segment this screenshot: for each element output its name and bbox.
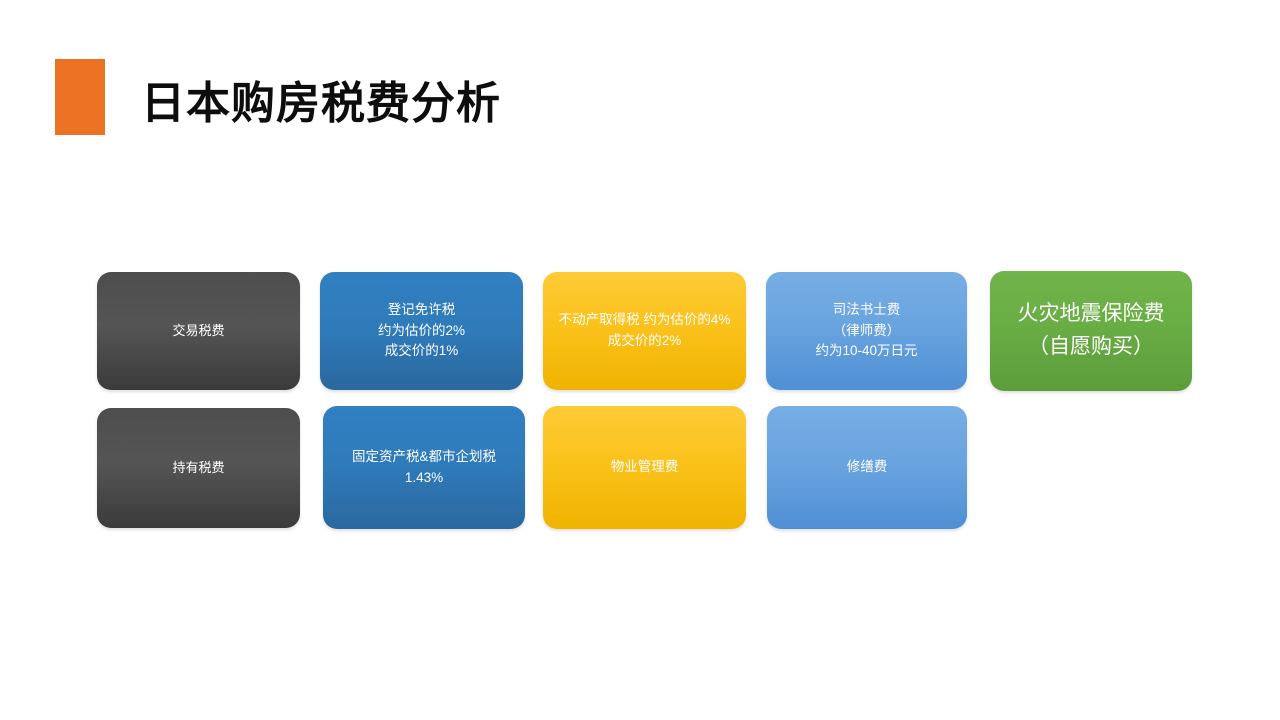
- card-transaction-taxes[interactable]: 交易税费: [97, 272, 300, 390]
- card-line: 持有税费: [107, 458, 290, 478]
- card-line: 修缮费: [777, 457, 957, 478]
- card-text-block: 修缮费: [777, 457, 957, 478]
- card-line: （律师费）: [776, 321, 957, 342]
- card-judicial-scrivener-fee[interactable]: 司法书士费 （律师费） 约为10-40万日元: [766, 272, 967, 390]
- card-text-block: 不动产取得税 约为估价的4% 成交价的2%: [553, 310, 736, 352]
- card-line: 约为估价的2%: [330, 321, 513, 342]
- card-line: 司法书士费: [776, 300, 957, 321]
- card-line: 火灾地震保险费: [1000, 298, 1182, 331]
- card-line: 不动产取得税 约为估价的4%: [553, 310, 736, 331]
- card-line: 交易税费: [107, 321, 290, 341]
- card-line: 成交价的1%: [330, 341, 513, 362]
- card-text-block: 物业管理费: [553, 457, 736, 478]
- card-line: 固定资产税&都市企划税 1.43%: [333, 447, 515, 489]
- card-text-block: 火灾地震保险费 （自愿购买）: [1000, 298, 1182, 363]
- card-line: 物业管理费: [553, 457, 736, 478]
- card-holding-taxes[interactable]: 持有税费: [97, 408, 300, 528]
- card-line: 约为10-40万日元: [776, 341, 957, 362]
- card-text-block: 持有税费: [107, 458, 290, 478]
- card-repair-reserve-fee[interactable]: 修缮费: [767, 406, 967, 529]
- card-line: （自愿购买）: [1000, 331, 1182, 364]
- card-line: 登记免许税: [330, 300, 513, 321]
- card-real-estate-acquisition-tax[interactable]: 不动产取得税 约为估价的4% 成交价的2%: [543, 272, 746, 390]
- card-fire-earthquake-insurance[interactable]: 火灾地震保险费 （自愿购买）: [990, 271, 1192, 391]
- card-fixed-asset-city-planning-tax[interactable]: 固定资产税&都市企划税 1.43%: [323, 406, 525, 529]
- card-text-block: 司法书士费 （律师费） 约为10-40万日元: [776, 300, 957, 363]
- card-line: 成交价的2%: [553, 331, 736, 352]
- slide-canvas: 日本购房税费分析 交易税费 登记免许税 约为估价的2% 成交价的1% 不动产取得…: [0, 0, 1280, 720]
- card-text-block: 固定资产税&都市企划税 1.43%: [333, 447, 515, 489]
- card-registration-license-tax[interactable]: 登记免许税 约为估价的2% 成交价的1%: [320, 272, 523, 390]
- card-text-block: 交易税费: [107, 321, 290, 341]
- card-property-management-fee[interactable]: 物业管理费: [543, 406, 746, 529]
- card-text-block: 登记免许税 约为估价的2% 成交价的1%: [330, 300, 513, 363]
- card-grid: 交易税费 登记免许税 约为估价的2% 成交价的1% 不动产取得税 约为估价的4%…: [0, 0, 1280, 720]
